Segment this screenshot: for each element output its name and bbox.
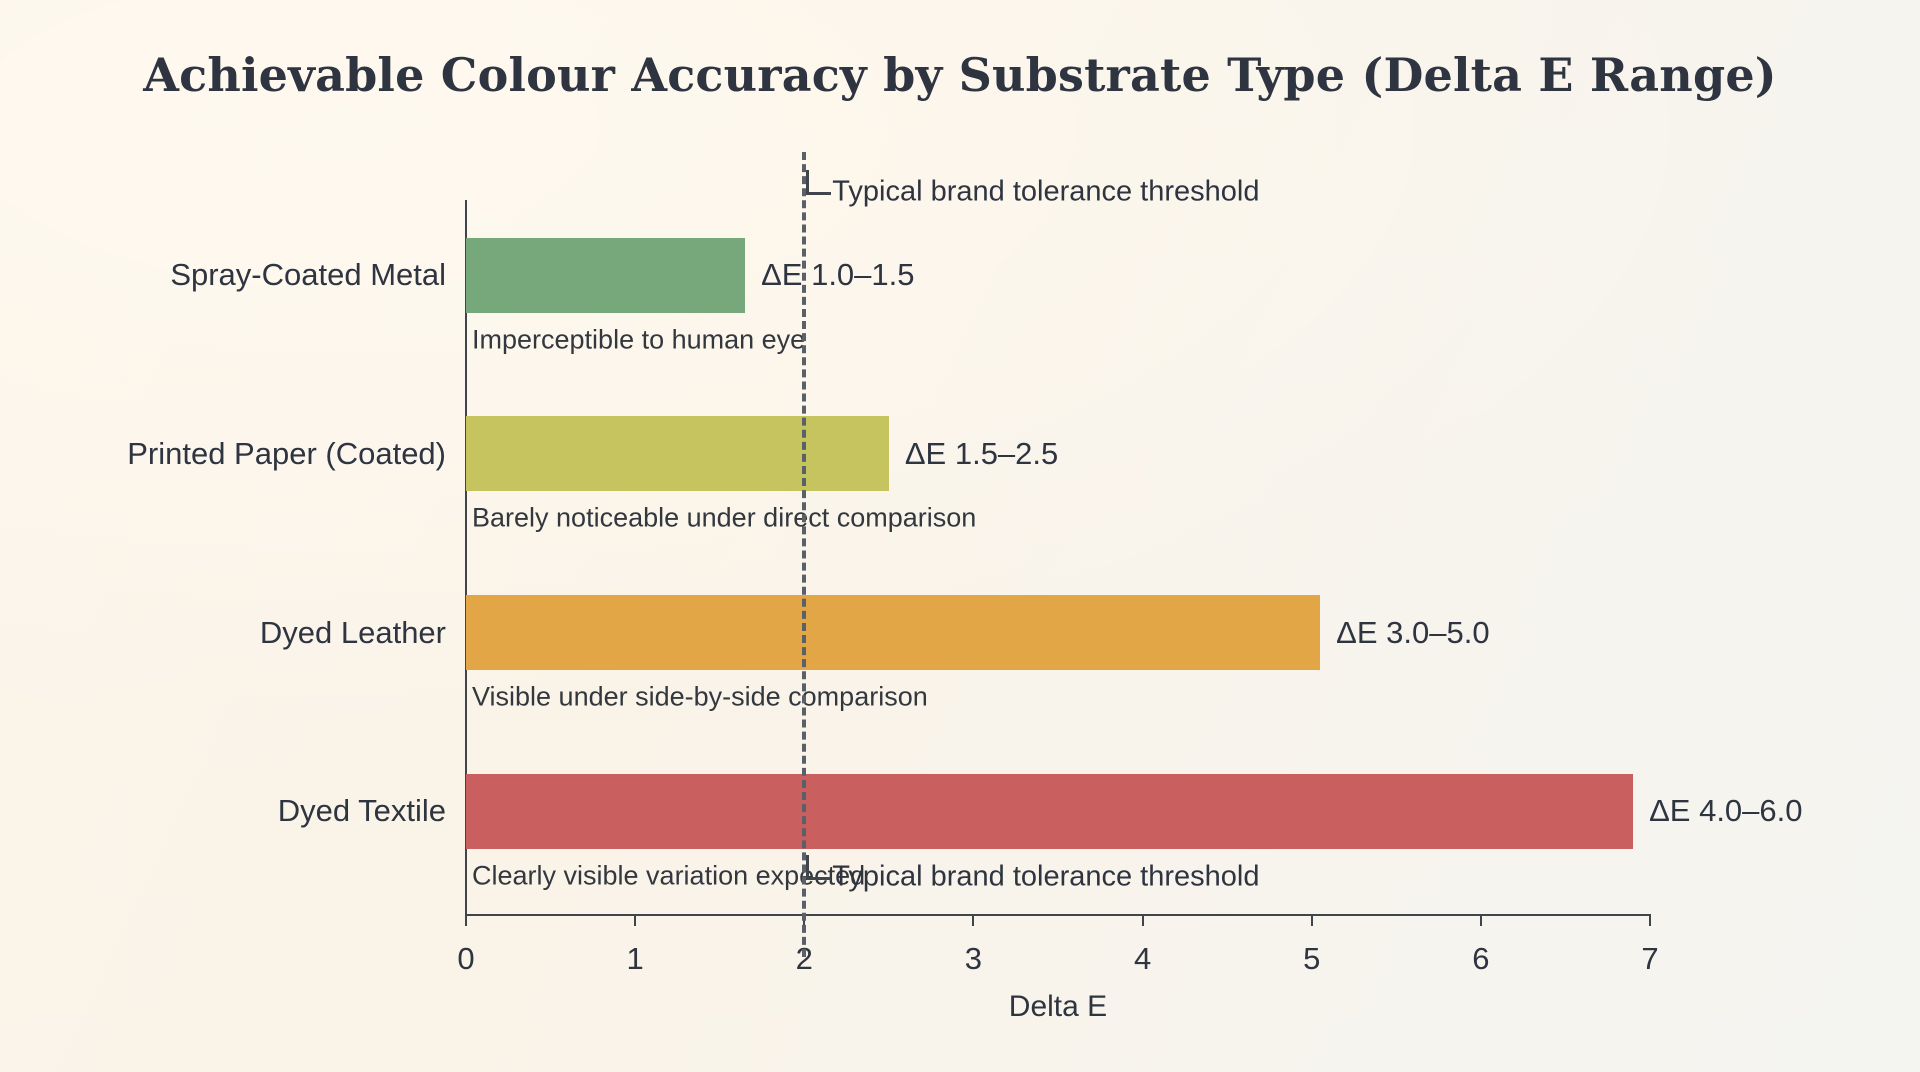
y-axis-category-label: Dyed Leather [260, 615, 446, 651]
bar [466, 774, 1633, 849]
x-axis-tick [972, 915, 974, 926]
threshold-callout-elbow-bottom [806, 855, 831, 880]
x-axis-tick [1649, 915, 1651, 926]
bar-value-label: ΔE 1.5–2.5 [905, 436, 1058, 472]
x-axis-title: Delta E [466, 990, 1650, 1024]
x-axis-tick-label: 5 [1303, 941, 1320, 977]
x-axis-tick [465, 915, 467, 926]
bar [466, 416, 889, 491]
bar [466, 595, 1320, 670]
bar [466, 238, 745, 313]
y-axis-category-label: Spray-Coated Metal [170, 257, 446, 293]
y-axis-category-label: Printed Paper (Coated) [127, 436, 446, 472]
threshold-callout-elbow-top [806, 170, 831, 195]
x-axis-tick [1311, 915, 1313, 926]
bar-value-label: ΔE 3.0–5.0 [1336, 615, 1489, 651]
x-axis-tick [1142, 915, 1144, 926]
y-axis-category-label: Dyed Textile [278, 793, 446, 829]
bar-annotation: Imperceptible to human eye [472, 324, 805, 355]
threshold-label-top: Typical brand tolerance threshold [832, 176, 1259, 209]
x-axis-tick [634, 915, 636, 926]
bar-value-label: ΔE 1.0–1.5 [761, 257, 914, 293]
bar-annotation: Visible under side-by-side comparison [472, 682, 928, 713]
x-axis-line [465, 914, 1651, 916]
x-axis-tick-label: 7 [1641, 941, 1658, 977]
x-axis-tick-label: 1 [627, 941, 644, 977]
x-axis-tick [1480, 915, 1482, 926]
x-axis-tick-label: 0 [457, 941, 474, 977]
bar-value-label: ΔE 4.0–6.0 [1649, 793, 1802, 829]
threshold-line [802, 152, 806, 957]
threshold-label-bottom: Typical brand tolerance threshold [832, 861, 1259, 894]
x-axis-tick-label: 4 [1134, 941, 1151, 977]
x-axis-tick-label: 6 [1472, 941, 1489, 977]
chart-title: Achievable Colour Accuracy by Substrate … [0, 48, 1920, 102]
y-axis-category-labels: Spray-Coated MetalPrinted Paper (Coated)… [0, 200, 446, 915]
bar-annotation: Barely noticeable under direct compariso… [472, 503, 976, 534]
plot-area: 01234567ΔE 1.0–1.5Imperceptible to human… [466, 200, 1650, 915]
chart-figure: Achievable Colour Accuracy by Substrate … [0, 0, 1920, 1072]
x-axis-tick-label: 3 [965, 941, 982, 977]
